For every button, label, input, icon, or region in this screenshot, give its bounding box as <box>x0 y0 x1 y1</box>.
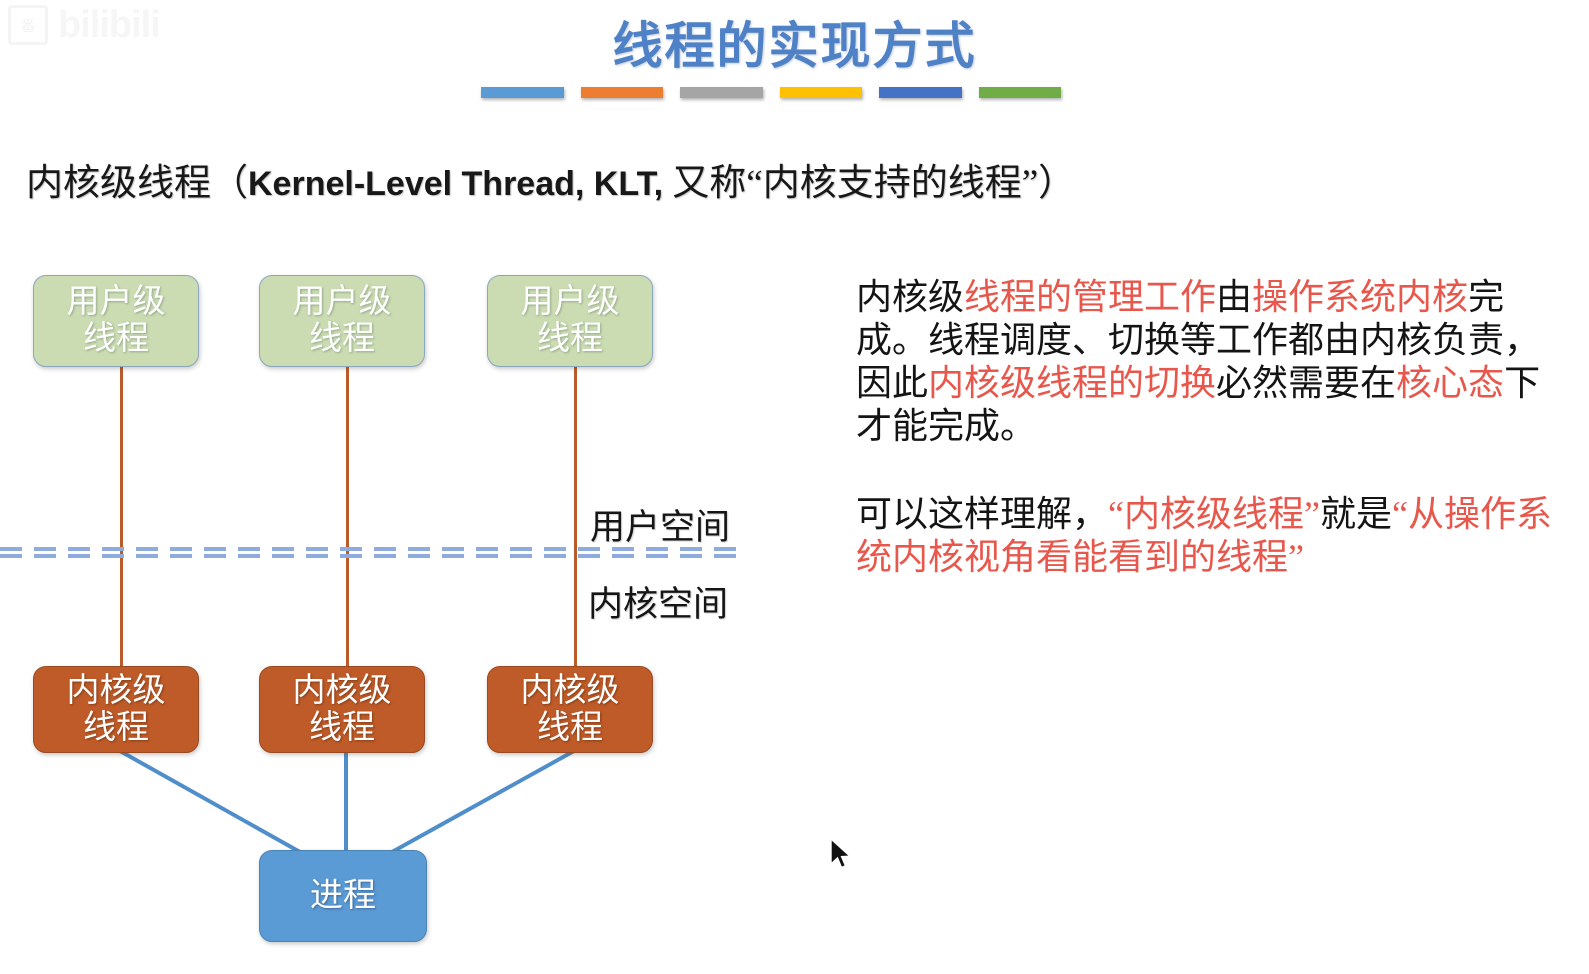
kernel-level-thread-label-2b: 线程 <box>309 710 375 747</box>
kernel-level-thread-label-1a: 内核级 <box>67 673 166 710</box>
accent-bar-5 <box>879 87 962 98</box>
explanation-paragraph-2: 可以这样理解，“内核级线程”就是“从操作系统内核视角看能看到的线程” <box>856 493 1556 579</box>
user-level-thread-label-3a: 用户级 <box>521 284 620 321</box>
para1-run-0: 内核级 <box>856 277 964 317</box>
connector-user-to-kernel-3 <box>574 363 577 669</box>
user-level-thread-label-3b: 线程 <box>537 321 603 358</box>
kernel-level-thread-box-3[interactable]: 内核级 线程 <box>487 666 653 753</box>
user-level-thread-box-2[interactable]: 用户级 线程 <box>259 275 425 367</box>
connector-user-to-kernel-1 <box>120 363 123 669</box>
kernel-level-thread-box-2[interactable]: 内核级 线程 <box>259 666 425 753</box>
para2-run-0: 可以这样理解， <box>856 494 1108 534</box>
accent-bar-6 <box>979 87 1062 98</box>
kernel-space-label: 内核空间 <box>588 576 728 627</box>
para1-run-8: 核心态 <box>1396 363 1504 403</box>
user-level-thread-label-1a: 用户级 <box>67 284 166 321</box>
slide-canvas: 番 bilibili 线程的实现方式 内核级线程（Kernel-Level Th… <box>0 0 1589 974</box>
para1-run-2: 由 <box>1216 277 1252 317</box>
para1-run-7: 必然需要在 <box>1216 363 1396 403</box>
para1-run-3: 操作系统内核 <box>1252 277 1468 317</box>
user-level-thread-label-2b: 线程 <box>309 321 375 358</box>
para1-run-1: 线程的管理工作 <box>964 277 1216 317</box>
paragraph-spacer <box>856 448 1556 493</box>
para1-run-6: 内核级线程的切换 <box>928 363 1216 403</box>
user-level-thread-label-1b: 线程 <box>83 321 149 358</box>
connector-user-to-kernel-2 <box>346 363 349 669</box>
kernel-level-thread-label-1b: 线程 <box>83 710 149 747</box>
kernel-level-thread-label-3b: 线程 <box>537 710 603 747</box>
user-level-thread-box-1[interactable]: 用户级 线程 <box>33 275 199 367</box>
kernel-level-thread-label-3a: 内核级 <box>521 673 620 710</box>
mouse-cursor-icon <box>829 838 855 872</box>
kernel-level-thread-box-1[interactable]: 内核级 线程 <box>33 666 199 753</box>
user-level-thread-label-2a: 用户级 <box>293 284 392 321</box>
para2-run-2: 就是 <box>1320 494 1392 534</box>
user-space-label: 用户空间 <box>590 499 730 550</box>
thread-model-diagram: 用户级 线程 用户级 线程 用户级 线程 用户空间 内核空间 内核级 线程 内核… <box>0 0 800 974</box>
user-level-thread-box-3[interactable]: 用户级 线程 <box>487 275 653 367</box>
process-box[interactable]: 进程 <box>259 850 427 942</box>
para2-run-1: “内核级线程” <box>1108 494 1320 534</box>
explanation-paragraph-1: 内核级线程的管理工作由操作系统内核完成。线程调度、切换等工作都由内核负责，因此内… <box>856 276 1556 448</box>
kernel-level-thread-label-2a: 内核级 <box>293 673 392 710</box>
explanation-text: 内核级线程的管理工作由操作系统内核完成。线程调度、切换等工作都由内核负责，因此内… <box>856 276 1556 579</box>
process-label: 进程 <box>310 878 376 915</box>
divider-dash-bottom <box>0 554 736 558</box>
